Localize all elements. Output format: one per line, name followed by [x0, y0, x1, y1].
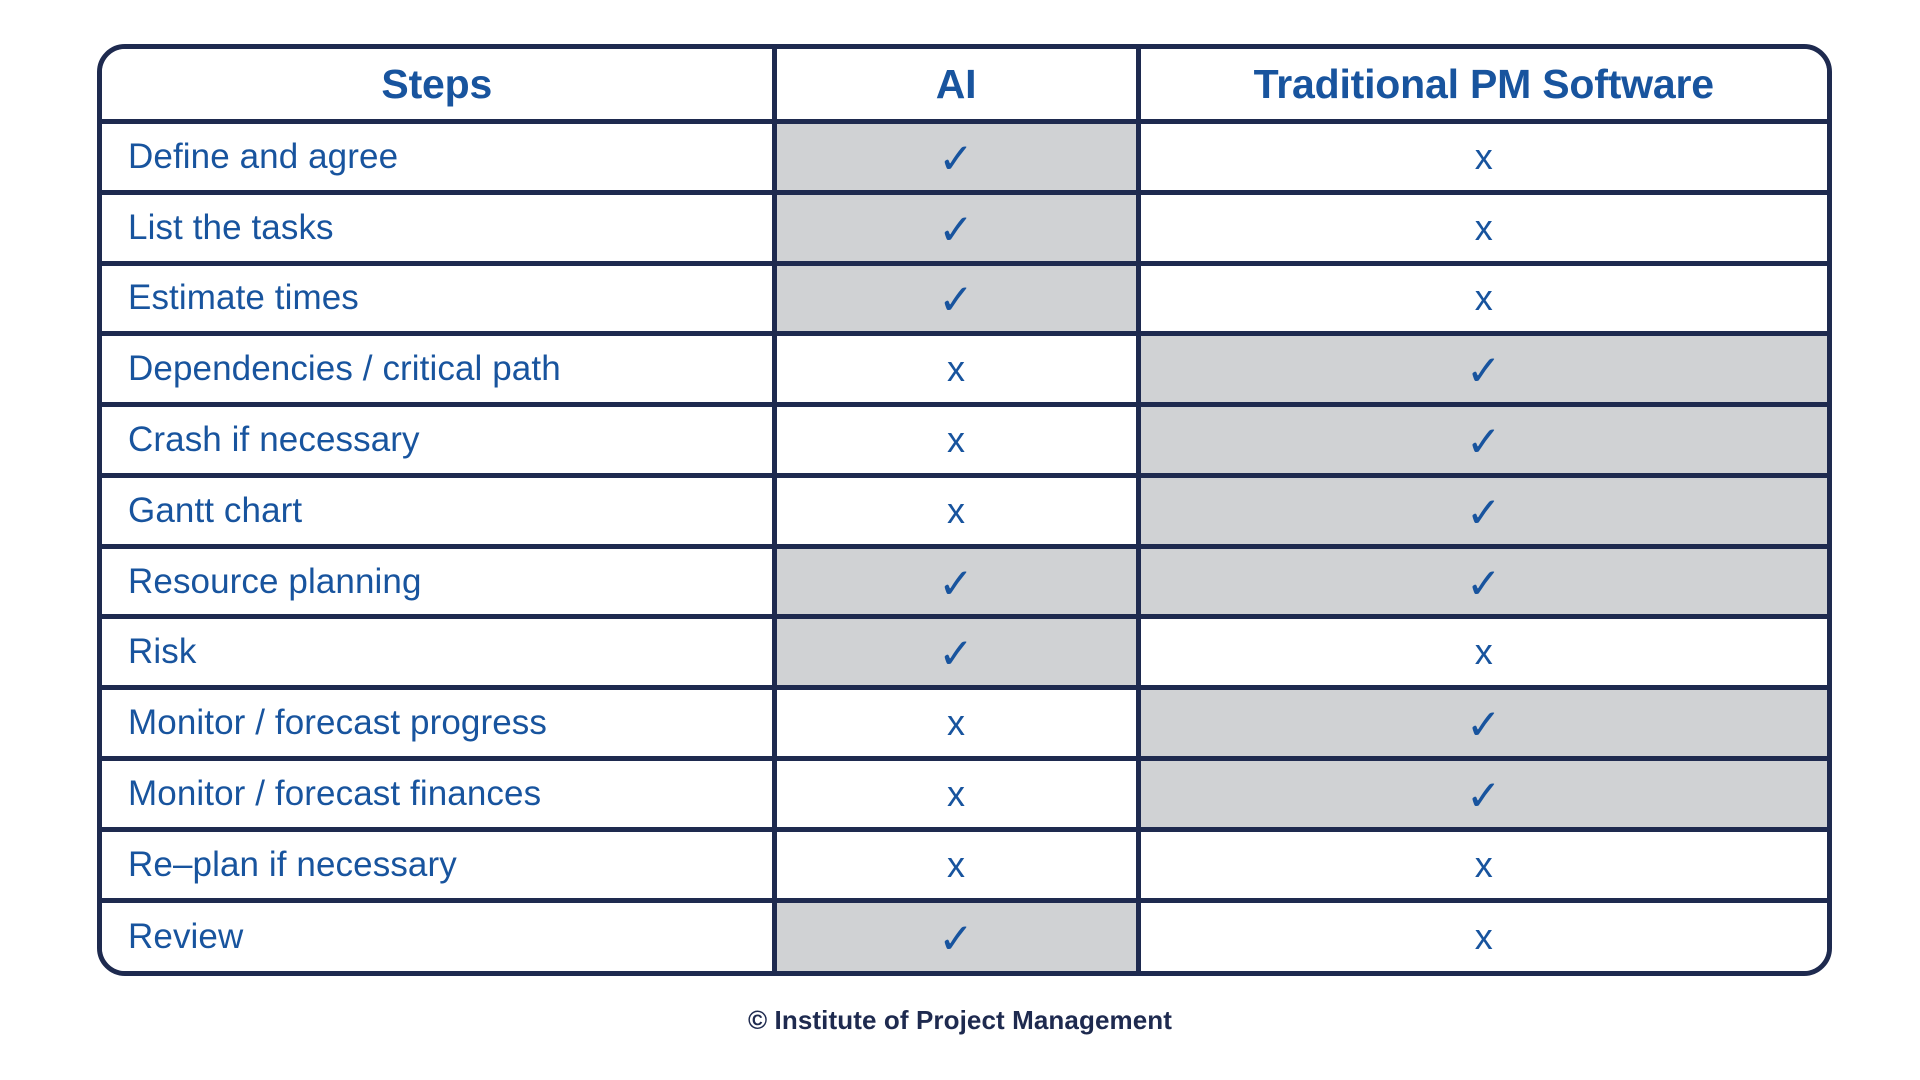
column-header-steps: Steps — [102, 49, 774, 122]
cell-ai: ✓ — [774, 192, 1138, 263]
cell-traditional-pm-software: ✓ — [1138, 759, 1827, 830]
cross-icon: x — [1475, 280, 1493, 316]
page-root: Steps AI Traditional PM Software Define … — [0, 0, 1920, 1080]
cell-ai: ✓ — [774, 263, 1138, 334]
cross-icon: x — [947, 776, 965, 812]
check-icon: ✓ — [938, 633, 973, 675]
comparison-table-container: Steps AI Traditional PM Software Define … — [97, 44, 1832, 976]
cell-ai: x — [774, 829, 1138, 900]
cross-icon: x — [1475, 210, 1493, 246]
table-row: Monitor / forecast progressx✓ — [102, 688, 1827, 759]
cell-traditional-pm-software: ✓ — [1138, 334, 1827, 405]
step-label: Estimate times — [102, 263, 774, 334]
cell-traditional-pm-software: ✓ — [1138, 405, 1827, 476]
table-row: Re–plan if necessaryxx — [102, 829, 1827, 900]
table-row: Resource planning✓✓ — [102, 546, 1827, 617]
table-header-row: Steps AI Traditional PM Software — [102, 49, 1827, 122]
cell-ai: ✓ — [774, 546, 1138, 617]
cell-ai: x — [774, 405, 1138, 476]
column-header-traditional-pm-software: Traditional PM Software — [1138, 49, 1827, 122]
check-icon: ✓ — [1466, 775, 1501, 817]
step-label: Re–plan if necessary — [102, 829, 774, 900]
check-icon: ✓ — [1466, 492, 1501, 534]
cell-ai: x — [774, 759, 1138, 830]
check-icon: ✓ — [1466, 350, 1501, 392]
step-label: Monitor / forecast finances — [102, 759, 774, 830]
step-label: Crash if necessary — [102, 405, 774, 476]
step-label: Risk — [102, 617, 774, 688]
cell-traditional-pm-software: ✓ — [1138, 546, 1827, 617]
cross-icon: x — [947, 493, 965, 529]
cross-icon: x — [947, 847, 965, 883]
cell-ai: ✓ — [774, 617, 1138, 688]
check-icon: ✓ — [938, 138, 973, 180]
column-header-ai: AI — [774, 49, 1138, 122]
comparison-table: Steps AI Traditional PM Software Define … — [102, 49, 1827, 971]
step-label: Review — [102, 900, 774, 971]
table-row: List the tasks✓x — [102, 192, 1827, 263]
cell-traditional-pm-software: x — [1138, 263, 1827, 334]
table-row: Estimate times✓x — [102, 263, 1827, 334]
check-icon: ✓ — [938, 209, 973, 251]
table-row: Gantt chartx✓ — [102, 475, 1827, 546]
cell-traditional-pm-software: ✓ — [1138, 688, 1827, 759]
cell-traditional-pm-software: x — [1138, 900, 1827, 971]
cross-icon: x — [1475, 847, 1493, 883]
cross-icon: x — [1475, 139, 1493, 175]
cell-ai: ✓ — [774, 122, 1138, 193]
cell-traditional-pm-software: ✓ — [1138, 475, 1827, 546]
table-row: Dependencies / critical pathx✓ — [102, 334, 1827, 405]
table-row: Crash if necessaryx✓ — [102, 405, 1827, 476]
cross-icon: x — [947, 705, 965, 741]
check-icon: ✓ — [938, 918, 973, 960]
step-label: Monitor / forecast progress — [102, 688, 774, 759]
cross-icon: x — [1475, 919, 1493, 955]
cell-traditional-pm-software: x — [1138, 617, 1827, 688]
table-row: Monitor / forecast financesx✓ — [102, 759, 1827, 830]
table-body: Define and agree✓xList the tasks✓xEstima… — [102, 122, 1827, 972]
table-row: Define and agree✓x — [102, 122, 1827, 193]
cell-ai: ✓ — [774, 900, 1138, 971]
table-header: Steps AI Traditional PM Software — [102, 49, 1827, 122]
table-row: Risk✓x — [102, 617, 1827, 688]
step-label: Resource planning — [102, 546, 774, 617]
cross-icon: x — [947, 422, 965, 458]
check-icon: ✓ — [1466, 704, 1501, 746]
cell-traditional-pm-software: x — [1138, 829, 1827, 900]
step-label: Dependencies / critical path — [102, 334, 774, 405]
check-icon: ✓ — [1466, 563, 1501, 605]
step-label: List the tasks — [102, 192, 774, 263]
cross-icon: x — [1475, 634, 1493, 670]
check-icon: ✓ — [938, 563, 973, 605]
copyright-caption: © Institute of Project Management — [0, 1005, 1920, 1036]
table-row: Review✓x — [102, 900, 1827, 971]
cell-traditional-pm-software: x — [1138, 192, 1827, 263]
step-label: Define and agree — [102, 122, 774, 193]
check-icon: ✓ — [938, 279, 973, 321]
cross-icon: x — [947, 351, 965, 387]
cell-ai: x — [774, 688, 1138, 759]
cell-traditional-pm-software: x — [1138, 122, 1827, 193]
step-label: Gantt chart — [102, 475, 774, 546]
cell-ai: x — [774, 334, 1138, 405]
cell-ai: x — [774, 475, 1138, 546]
check-icon: ✓ — [1466, 421, 1501, 463]
